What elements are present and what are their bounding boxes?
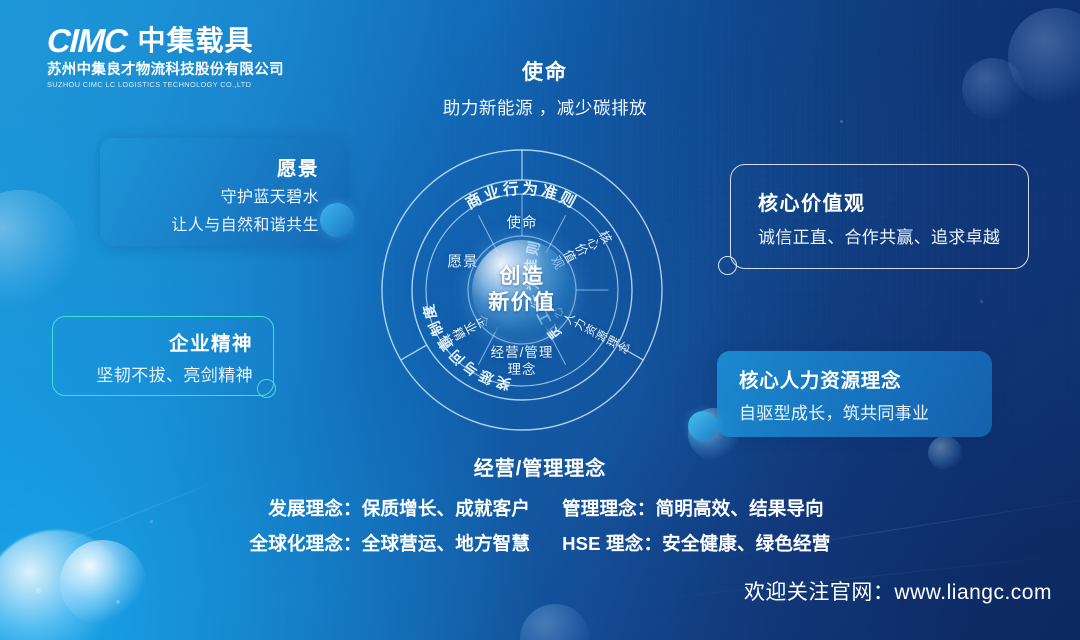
logo-wordmark-row: CIMC 中集载具 <box>47 24 317 57</box>
wheel-inner-label-business: 经营/管理理念 <box>487 345 557 379</box>
spirit-card-title: 企业精神 <box>53 327 253 356</box>
decorative-bubble-left <box>0 190 80 310</box>
vision-card: 愿景 守护蓝天碧水 让人与自然和谐共生 <box>100 138 345 246</box>
wheel-core-sphere: 创造 新价值 <box>472 240 572 340</box>
core-values-card: 核心价值观 诚信正直、合作共赢、追求卓越 <box>730 164 1029 269</box>
business-philosophy-col-right: 管理理念：简明高效、结果导向 HSE 理念：安全健康、绿色经营 <box>562 495 830 556</box>
vision-card-line1: 守护蓝天碧水 <box>100 187 319 209</box>
mission-text: 助力新能源 ，减少碳排放 <box>395 95 695 120</box>
decorative-bubble-top-right <box>1008 8 1080 104</box>
spirit-card: 企业精神 坚韧不拔、亮剑精神 <box>52 316 274 396</box>
core-values-card-title: 核心价值观 <box>758 187 1028 216</box>
core-values-connector-node <box>718 256 737 275</box>
business-philosophy-block: 经营/管理理念 发展理念：保质增长、成就客户 全球化理念：全球营运、地方智慧 管… <box>0 452 1080 556</box>
wheel-core-line1: 创造 <box>500 265 545 289</box>
values-wheel-diagram: 商业行为准则 员工行为准则 奖惩与问责制度 使命 核心价值观 核心人力资源理念 … <box>380 148 664 432</box>
business-item: HSE 理念：安全健康、绿色经营 <box>562 530 830 556</box>
logo-company-name-cn: 苏州中集良才物流科技股份有限公司 <box>47 62 317 79</box>
spirit-card-line1: 坚韧不拔、亮剑精神 <box>53 361 253 386</box>
decorative-dot <box>840 120 843 123</box>
hr-philosophy-card-title: 核心人力资源理念 <box>739 364 992 393</box>
business-philosophy-col-left: 发展理念：保质增长、成就客户 全球化理念：全球营运、地方智慧 <box>250 495 531 556</box>
mission-header: 使命 助力新能源 ，减少碳排放 <box>395 56 695 120</box>
business-philosophy-title: 经营/管理理念 <box>0 452 1080 481</box>
wheel-inner-label-vision: 愿景 <box>448 251 479 272</box>
company-logo: CIMC 中集载具 苏州中集良才物流科技股份有限公司 SUZHOU CIMC L… <box>47 24 317 89</box>
decorative-bubble-bottom <box>520 604 590 640</box>
decorative-dot <box>116 600 120 604</box>
vision-card-title: 愿景 <box>100 152 319 181</box>
hr-philosophy-card: 核心人力资源理念 自驱型成长，筑共同事业 <box>717 351 992 437</box>
hr-philosophy-connector-node <box>688 411 718 441</box>
logo-latin-mark: CIMC <box>46 24 127 57</box>
business-item: 管理理念：简明高效、结果导向 <box>562 495 830 521</box>
decorative-bubble-top-right-small <box>962 58 1024 120</box>
core-values-card-line1: 诚信正直、合作共赢、追求卓越 <box>758 223 1028 248</box>
business-item: 全球化理念：全球营运、地方智慧 <box>250 530 531 556</box>
decorative-dot <box>980 300 983 303</box>
hr-philosophy-card-line1: 自驱型成长，筑共同事业 <box>739 399 992 424</box>
logo-company-name-en: SUZHOU CIMC LC LOGISTICS TECHNOLOGY CO.,… <box>47 80 317 89</box>
poster-canvas: CIMC 中集载具 苏州中集良才物流科技股份有限公司 SUZHOU CIMC L… <box>0 0 1080 640</box>
wheel-core-line2: 新价值 <box>488 291 556 315</box>
vision-connector-node <box>320 203 354 237</box>
wheel-inner-label-mission: 使命 <box>507 212 538 233</box>
business-item: 发展理念：保质增长、成就客户 <box>250 495 531 521</box>
decorative-dot <box>36 588 41 593</box>
spirit-connector-node <box>257 379 276 398</box>
vision-card-line2: 让人与自然和谐共生 <box>100 215 319 237</box>
website-footer: 欢迎关注官网：www.liangc.com <box>744 576 1052 606</box>
logo-chinese-mark: 中集载具 <box>138 27 254 55</box>
business-philosophy-grid: 发展理念：保质增长、成就客户 全球化理念：全球营运、地方智慧 管理理念：简明高效… <box>0 495 1080 556</box>
mission-title: 使命 <box>395 56 695 86</box>
